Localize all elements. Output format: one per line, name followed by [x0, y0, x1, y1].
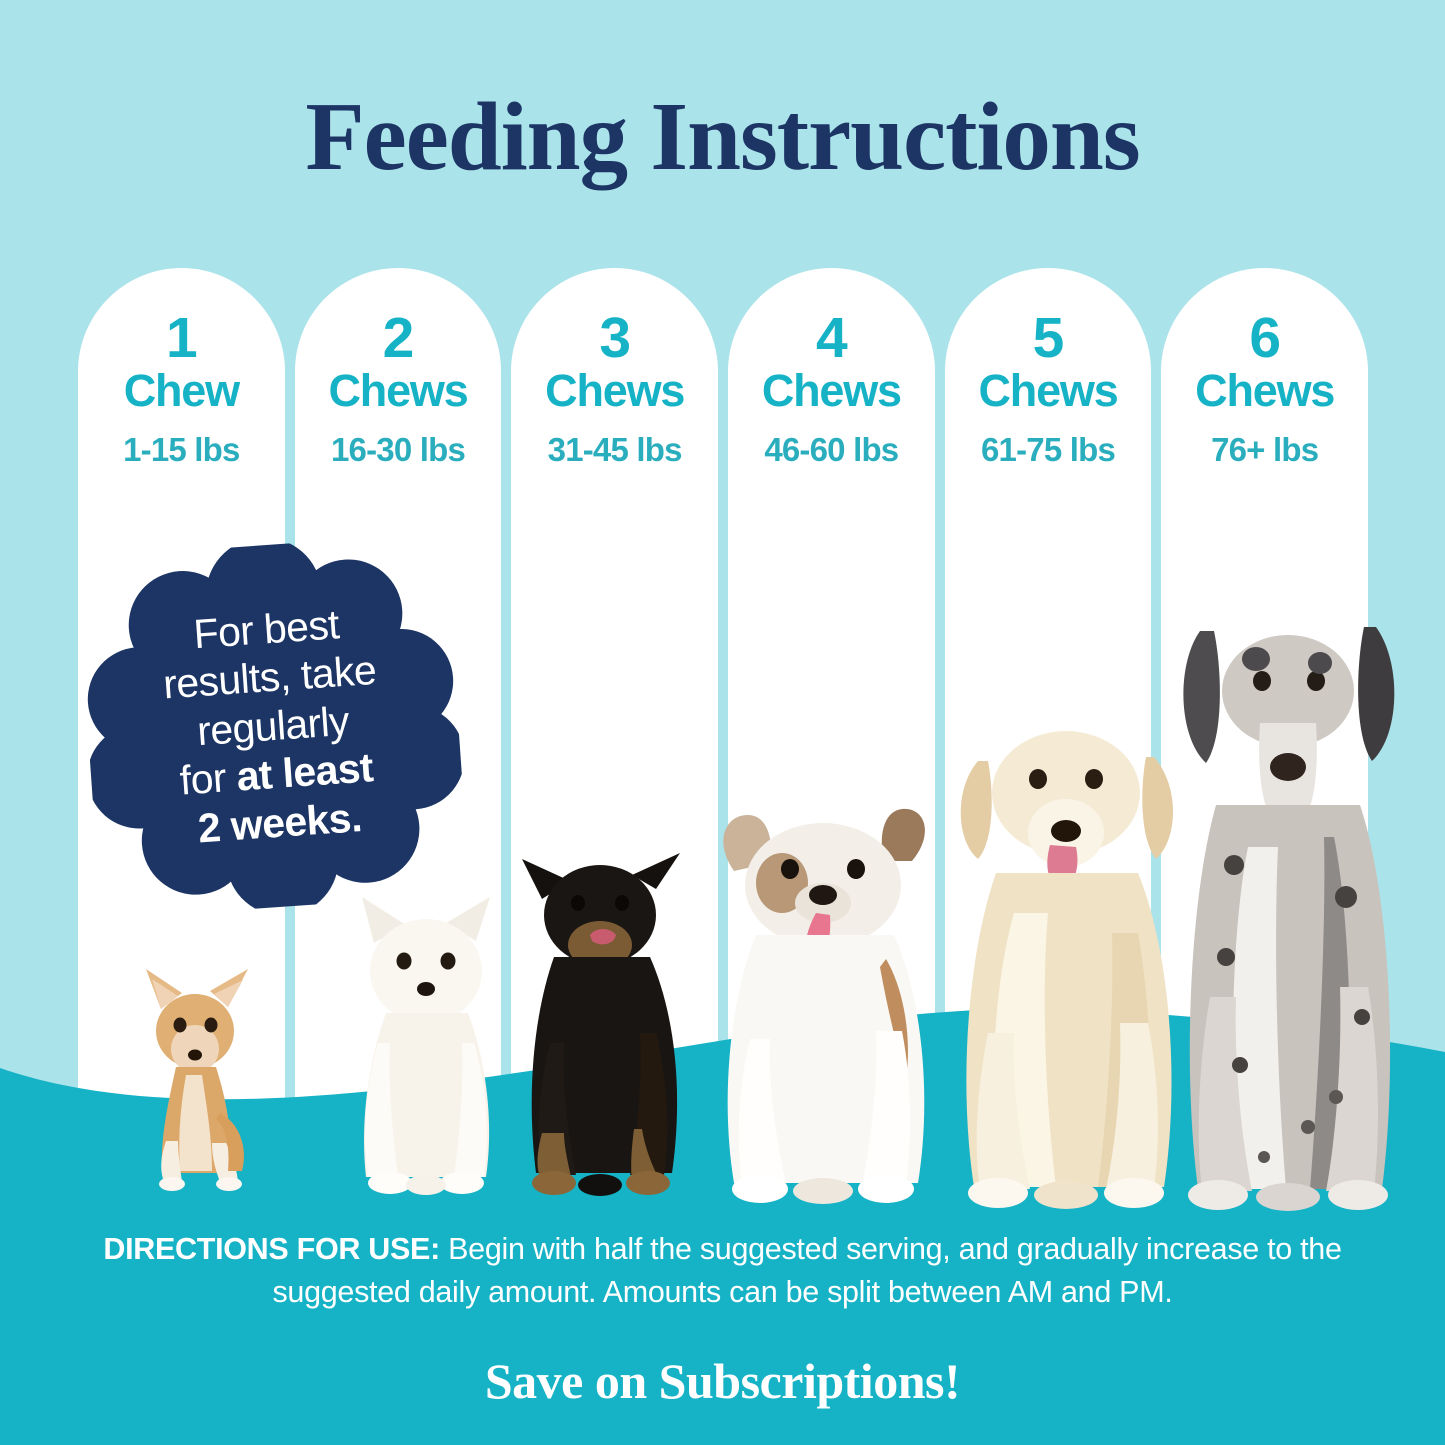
badge-line-5: 2 weeks. — [196, 793, 363, 853]
weight-range-2: 16-30 lbs — [295, 433, 502, 466]
weight-range-4: 46-60 lbs — [728, 433, 935, 466]
chew-count-5: 5 — [945, 310, 1152, 367]
weight-range-1: 1-15 lbs — [78, 433, 285, 466]
weight-range-3: 31-45 lbs — [511, 433, 718, 466]
badge-line-4-prefix: for — [178, 754, 238, 804]
chew-unit-5: Chews — [945, 368, 1152, 413]
badge-line-4-emphasis: at least — [235, 744, 374, 799]
badge-line-5-emphasis: 2 weeks. — [196, 794, 363, 851]
chew-count-3: 3 — [511, 310, 718, 367]
weight-range-6: 76+ lbs — [1161, 433, 1368, 466]
chew-unit-4: Chews — [728, 368, 935, 413]
chew-unit-2: Chews — [295, 368, 502, 413]
chew-count-2: 2 — [295, 310, 502, 367]
directions-for-use: DIRECTIONS FOR USE: Begin with half the … — [90, 1228, 1355, 1315]
chew-unit-1: Chew — [78, 368, 285, 413]
dosage-column-4: 4 Chews 46-60 lbs — [728, 268, 935, 1100]
dosage-column-5: 5 Chews 61-75 lbs — [945, 268, 1152, 1100]
directions-label: DIRECTIONS FOR USE: — [103, 1232, 440, 1266]
chew-count-4: 4 — [728, 310, 935, 367]
weight-range-5: 61-75 lbs — [945, 433, 1152, 466]
dosage-column-3: 3 Chews 31-45 lbs — [511, 268, 718, 1100]
feeding-instructions-infographic: Feeding Instructions 1 Chew 1-15 lbs 2 C… — [0, 0, 1445, 1445]
chew-count-6: 6 — [1161, 310, 1368, 367]
chew-unit-6: Chews — [1161, 368, 1368, 413]
save-on-subscriptions-cta: Save on Subscriptions! — [0, 1352, 1445, 1410]
chew-count-1: 1 — [78, 310, 285, 367]
dosage-column-6: 6 Chews 76+ lbs — [1161, 268, 1368, 1100]
page-title: Feeding Instructions — [0, 86, 1445, 189]
best-results-badge-text: For best results, take regularly for at … — [76, 533, 470, 920]
chew-unit-3: Chews — [511, 368, 718, 413]
